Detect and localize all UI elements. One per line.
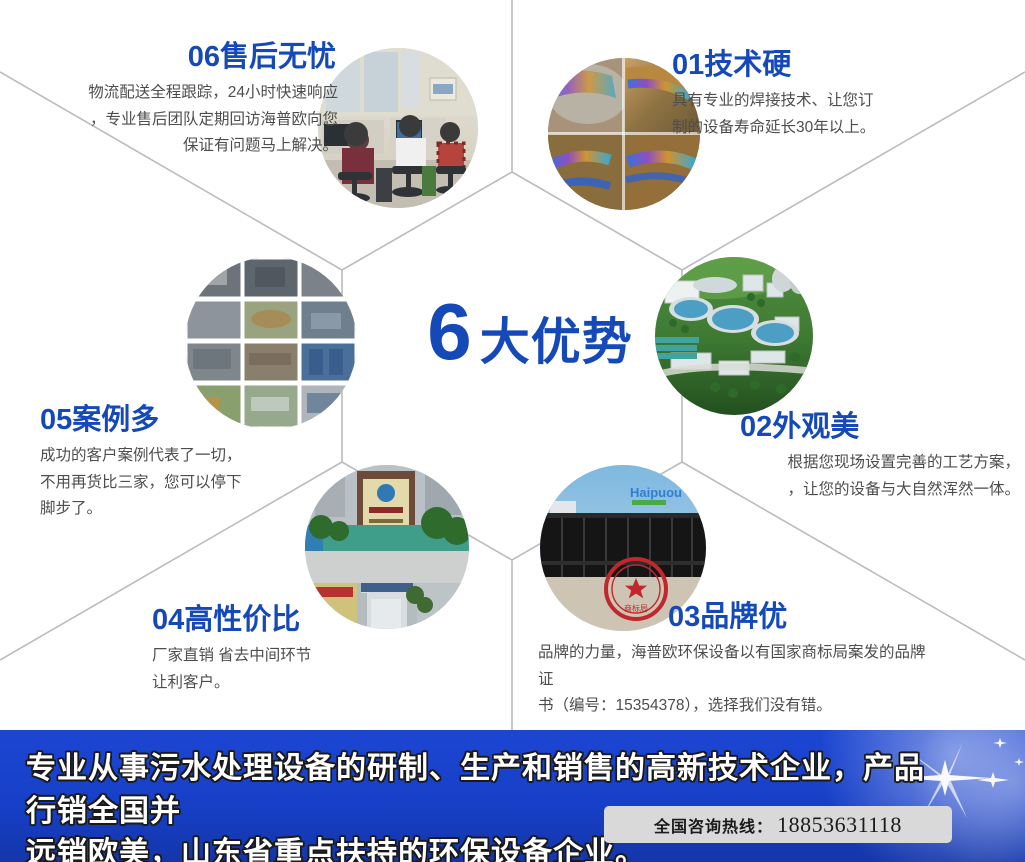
advantage-item-01: 01技术硬 具有专业的焊接技术、让您订 制的设备寿命延长30年以上。 <box>672 50 1002 141</box>
advantage-02-desc-line-1: 根据您现场设置完善的工艺方案， <box>787 454 1020 471</box>
advantage-item-02: 02外观美 根据您现场设置完善的工艺方案， ，让您的设备与大自然浑然一体。 <box>740 412 1020 503</box>
advantage-03-desc-line-1: 品牌的力量，海普欧环保设备以有国家商标局案发的品牌证 <box>538 644 926 688</box>
advantages-infographic: 6 大优势 <box>0 0 1025 862</box>
advantage-03-desc-line-2: 书（编号：15354378），选择我们没有错。 <box>538 697 832 714</box>
hotline-box[interactable]: 全国咨询热线： 18853631118 <box>604 806 952 843</box>
advantage-04-desc-line-2: 让利客户。 <box>152 674 230 691</box>
banner-headline: 专业从事污水处理设备的研制、生产和销售的高新技术企业，产品行销全国并 远销欧美，… <box>26 748 926 862</box>
photo-02-treatment-plant-aerial <box>655 257 813 415</box>
advantage-02-desc: 根据您现场设置完善的工艺方案， ，让您的设备与大自然浑然一体。 <box>735 450 1020 503</box>
advantage-05-desc-line-2: 不用再货比三家，您可以停下 <box>40 474 242 491</box>
center-headline: 6 大优势 <box>400 292 660 384</box>
advantage-05-desc: 成功的客户案例代表了一切， 不用再货比三家，您可以停下 脚步了。 <box>40 443 340 523</box>
advantage-01-desc-line-2: 制的设备寿命延长30年以上。 <box>672 119 875 136</box>
advantage-05-title: 05案例多 <box>40 405 340 437</box>
advantage-01-title: 01技术硬 <box>672 50 1002 82</box>
advantage-02-title: 02外观美 <box>740 412 1020 444</box>
advantage-item-06: 06售后无忧 物流配送全程跟踪，24小时快速响应 ，专业售后团队定期回访海普欧向… <box>8 42 338 160</box>
center-number: 6 <box>427 292 470 372</box>
advantage-02-desc-line-2: ，让您的设备与大自然浑然一体。 <box>787 481 1020 498</box>
advantage-01-desc-line-1: 具有专业的焊接技术、让您订 <box>672 92 874 109</box>
advantage-item-03: 03品牌优 品牌的力量，海普欧环保设备以有国家商标局案发的品牌证 书（编号：15… <box>538 602 938 720</box>
advantage-item-05: 05案例多 成功的客户案例代表了一切， 不用再货比三家，您可以停下 脚步了。 <box>40 405 340 523</box>
photo-05-case-collage <box>185 257 357 429</box>
advantage-05-desc-line-3: 脚步了。 <box>40 500 102 517</box>
advantage-04-title: 04高性价比 <box>152 605 452 637</box>
advantage-03-title: 03品牌优 <box>668 602 938 634</box>
advantage-01-desc: 具有专业的焊接技术、让您订 制的设备寿命延长30年以上。 <box>672 88 1002 141</box>
advantage-04-desc-line-1: 厂家直销 省去中间环节 <box>152 647 311 664</box>
advantage-06-desc: 物流配送全程跟踪，24小时快速响应 ，专业售后团队定期回访海普欧向您 保证有问题… <box>8 80 338 160</box>
advantage-item-04: 04高性价比 厂家直销 省去中间环节 让利客户。 <box>152 605 452 696</box>
advantage-06-desc-line-2: ，专业售后团队定期回访海普欧向您 <box>90 111 338 128</box>
advantage-06-title: 06售后无忧 <box>8 42 338 74</box>
advantage-06-desc-line-3: 保证有问题马上解决。 <box>183 137 338 154</box>
advantage-03-desc: 品牌的力量，海普欧环保设备以有国家商标局案发的品牌证 书（编号：15354378… <box>538 640 938 720</box>
advantage-05-desc-line-1: 成功的客户案例代表了一切， <box>40 447 242 464</box>
hotline-label: 全国咨询热线： <box>654 813 773 837</box>
hotline-number: 18853631118 <box>777 812 902 838</box>
center-text: 大优势 <box>480 317 633 367</box>
advantage-04-desc: 厂家直销 省去中间环节 让利客户。 <box>152 643 452 696</box>
svg-text:Haipuou: Haipuou <box>630 485 682 500</box>
photo-06-office-staff <box>318 48 478 208</box>
advantage-06-desc-line-1: 物流配送全程跟踪，24小时快速响应 <box>88 84 338 101</box>
